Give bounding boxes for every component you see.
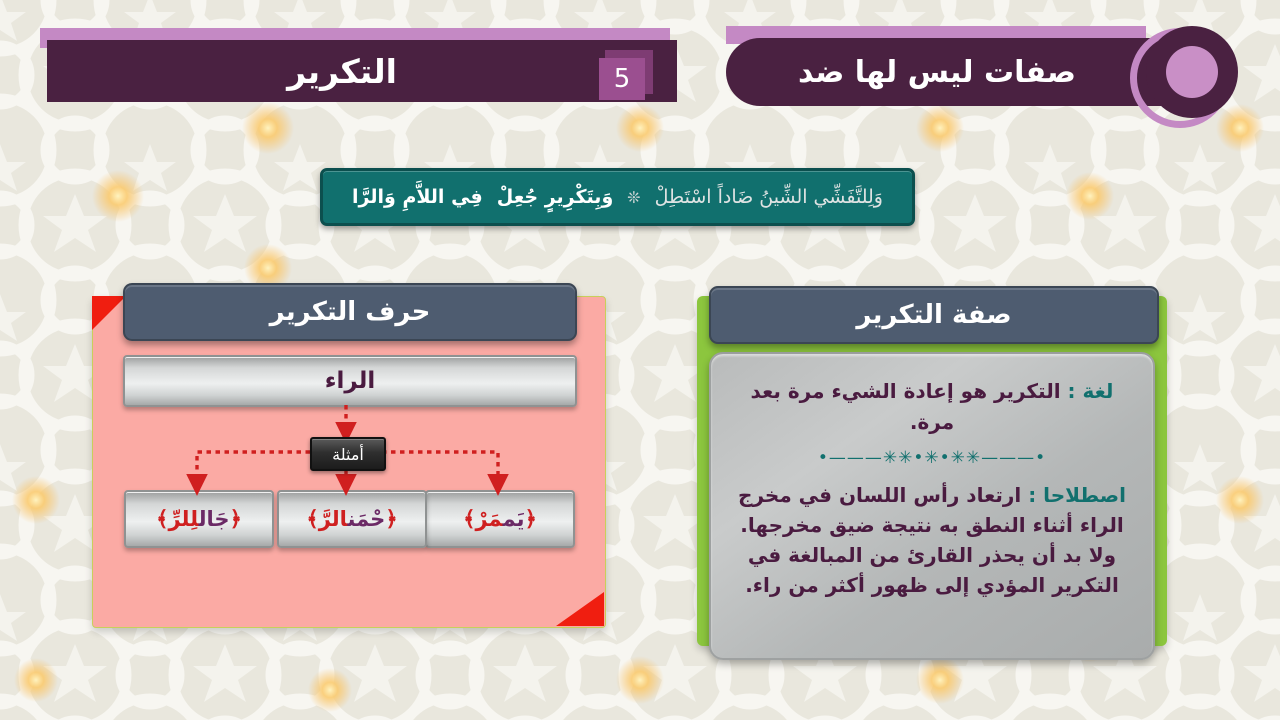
- example-2-red: الرَّ: [319, 507, 348, 531]
- example-box-3: ﴿جَاللِلرِّ﴾: [124, 490, 274, 548]
- example-1-bracket-open: ﴿: [525, 507, 537, 531]
- page-title: التكرير: [287, 52, 397, 91]
- example-text-3: ﴿جَاللِلرِّ﴾: [156, 507, 242, 531]
- example-2-purple: حْمَن: [348, 507, 386, 531]
- example-text-1: ﴿يَممَرْ﴾: [463, 507, 537, 531]
- corner-triangle-top-left: [92, 296, 126, 330]
- verse-banner: وَلِلتَّفَشِّي الشِّينُ ضَاداً اسْتَطِلْ…: [320, 168, 915, 226]
- linguistic-definition-line: لغة : التكرير هو إعادة الشيء مرة بعد مرة…: [731, 376, 1133, 438]
- decorative-separator: •———✳✳•✳•✳✳———•: [731, 448, 1133, 468]
- left-header-bar: التكرير 5: [47, 40, 677, 102]
- header-circle-decoration: [1146, 26, 1238, 118]
- example-3-bracket-close: ﴾: [156, 507, 168, 531]
- example-box-1: ﴿يَممَرْ﴾: [425, 490, 575, 548]
- verse-segment-right: فِي اللاَّمِ وَالرَّا: [352, 186, 483, 208]
- technical-definition-line: اصطلاحا : ارتعاد رأس اللسان في مخرج الرا…: [731, 480, 1133, 600]
- example-1-purple: يَم: [503, 507, 525, 531]
- header-circle-inner: [1166, 46, 1218, 98]
- example-3-purple: جَال: [199, 507, 230, 531]
- verse-segment-left: وَلِلتَّفَشِّي الشِّينُ ضَاداً اسْتَطِلْ: [655, 186, 883, 208]
- attribute-panel-title-text: صفة التكرير: [856, 300, 1011, 330]
- example-2-bracket-close: ﴾: [306, 507, 318, 531]
- letter-raa-text: الراء: [325, 368, 375, 394]
- technical-label: اصطلاحا :: [1028, 483, 1126, 507]
- letter-raa-box: الراء: [123, 355, 577, 407]
- examples-label-box: أمثلة: [310, 437, 386, 471]
- example-1-bracket-close: ﴾: [463, 507, 475, 531]
- example-3-bracket-open: ﴿: [230, 507, 242, 531]
- verse-ornament-icon: ❊: [627, 188, 640, 207]
- slide-number-text: 5: [614, 64, 631, 94]
- attribute-panel-title: صفة التكرير: [709, 286, 1159, 344]
- examples-label-text: أمثلة: [332, 445, 364, 464]
- attribute-panel-body: لغة : التكرير هو إعادة الشيء مرة بعد مرة…: [709, 352, 1155, 660]
- linguistic-text: التكرير هو إعادة الشيء مرة بعد مرة.: [751, 379, 1061, 434]
- letter-panel-title: حرف التكرير: [123, 283, 577, 341]
- corner-triangle-bottom-right: [556, 592, 604, 626]
- example-2-bracket-open: ﴿: [385, 507, 397, 531]
- verse-segment-bold: وَبِتَكْرِيرٍ جُعِلْ: [497, 186, 614, 208]
- linguistic-label: لغة :: [1068, 379, 1114, 403]
- letter-panel-title-text: حرف التكرير: [270, 297, 431, 327]
- example-box-2: ﴿حْمَنالرَّ﴾: [277, 490, 427, 548]
- section-title: صفات ليس لها ضد: [798, 55, 1076, 90]
- right-header-bar: صفات ليس لها ضد: [726, 38, 1178, 106]
- example-1-red: مَرْ: [475, 507, 502, 531]
- slide-number-badge: 5: [599, 58, 645, 100]
- example-text-2: ﴿حْمَنالرَّ﴾: [306, 507, 397, 531]
- example-3-red: لِلرِّ: [168, 507, 198, 531]
